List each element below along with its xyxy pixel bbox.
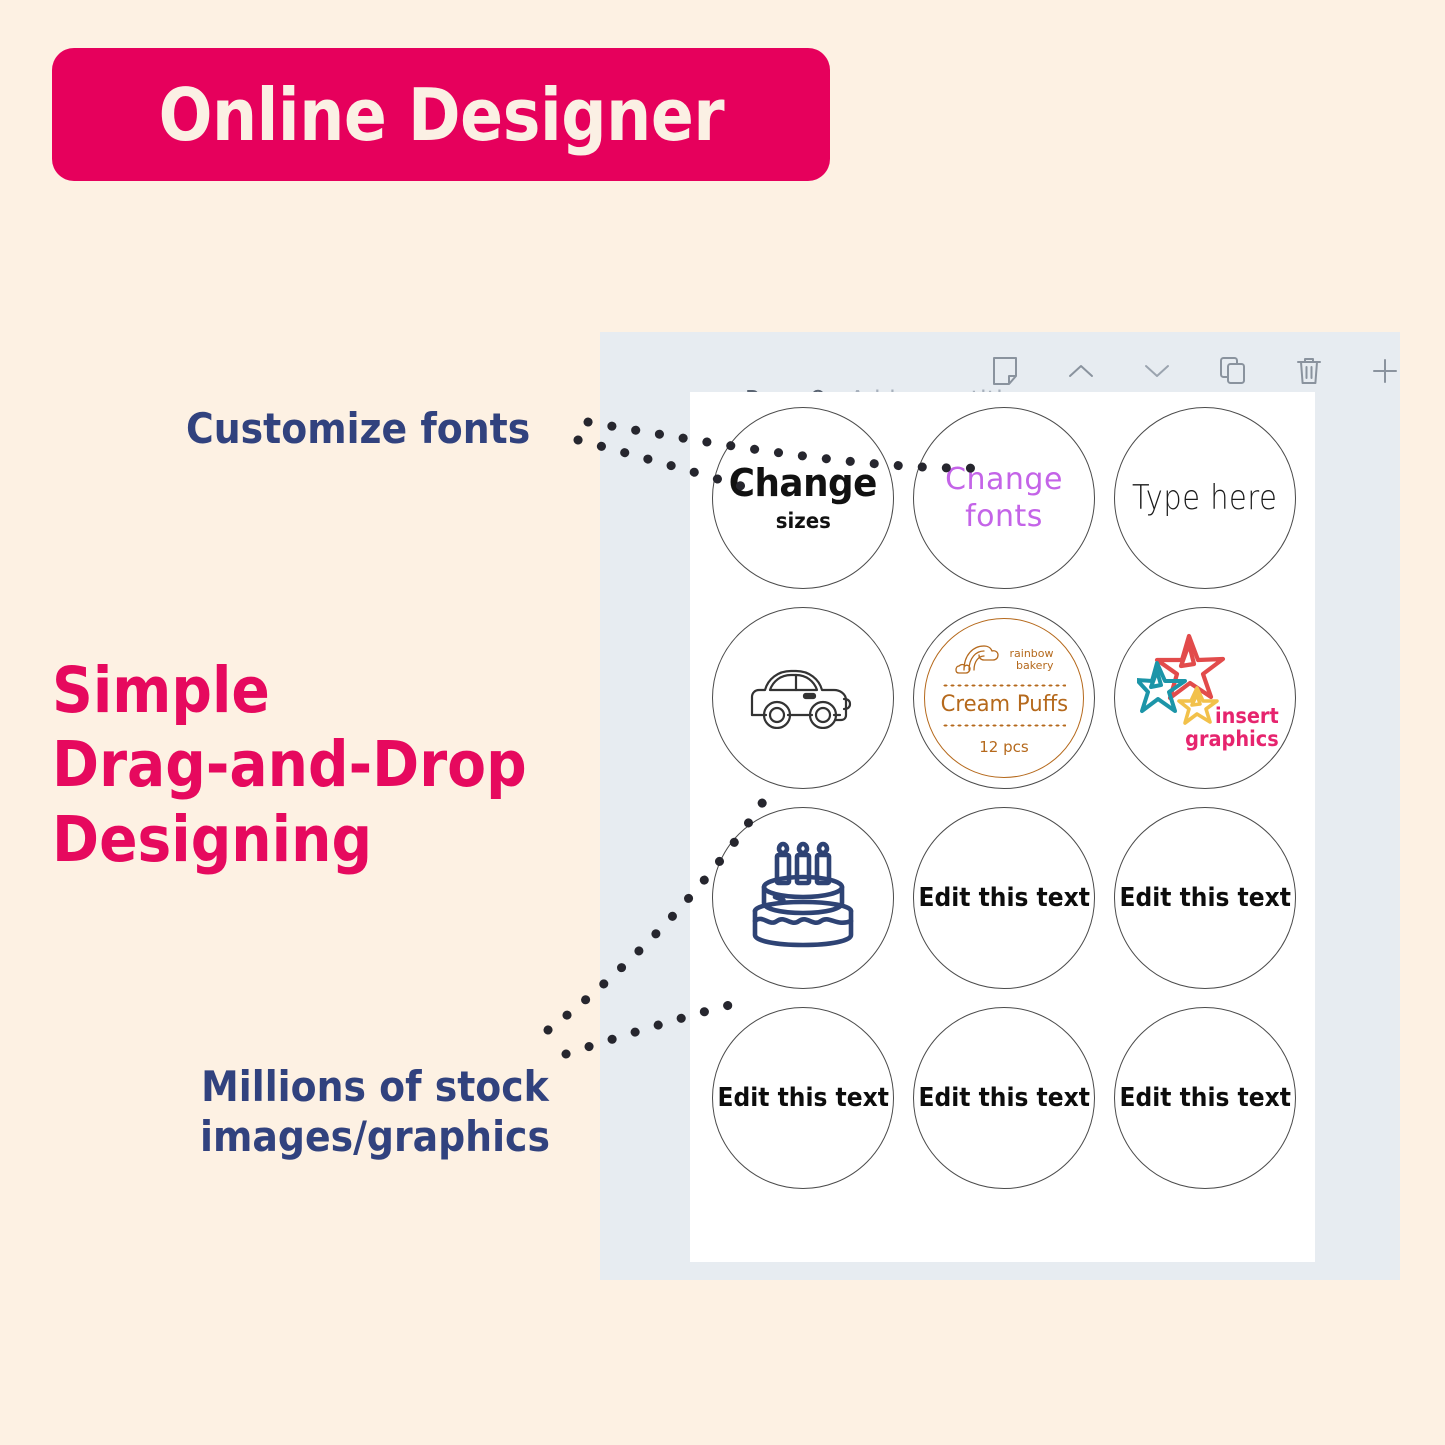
sticker-graphics-label: insert graphics (1185, 705, 1279, 752)
annotation-line: Designing (52, 803, 527, 877)
sticker-text-small: sizes (775, 511, 830, 532)
sticker-text: Edit this text (918, 1083, 1089, 1113)
dotted-divider-bottom (942, 724, 1066, 727)
bakery-quantity: 12 pcs (979, 738, 1028, 756)
sticker-fonts-line2: fonts (945, 498, 1063, 536)
star-red (1157, 636, 1223, 698)
graphics-label-line1: insert (1215, 704, 1279, 728)
bakery-brand: rainbow bakery (1010, 648, 1054, 672)
sticker-edit-text[interactable]: Edit this text (913, 1007, 1095, 1189)
sticker-text: Edit this text (1119, 1083, 1290, 1113)
dotted-divider-top (942, 684, 1066, 687)
bakery-label-inner: rainbow bakery Cream Puffs 12 pcs (924, 618, 1084, 778)
sticker-edit-text[interactable]: Edit this text (1114, 807, 1296, 989)
sticker-edit-text[interactable]: Edit this text (1114, 1007, 1296, 1189)
sticker-bakery-label[interactable]: rainbow bakery Cream Puffs 12 pcs (913, 607, 1095, 789)
annotation-line: Drag-and-Drop (52, 728, 527, 802)
note-icon[interactable] (988, 354, 1022, 388)
copy-icon[interactable] (1216, 354, 1250, 388)
star-teal (1137, 663, 1185, 711)
design-canvas[interactable]: Change sizes Change fonts Type here (690, 392, 1315, 1262)
sticker-text: Edit this text (1119, 883, 1290, 913)
page-title: Online Designer (158, 73, 724, 157)
annotation-line: images/graphics (186, 1112, 564, 1162)
sticker-birthday-cake[interactable] (712, 807, 894, 989)
trash-icon[interactable] (1292, 354, 1326, 388)
sticker-text: Edit this text (918, 883, 1089, 913)
birthday-cake-icon (743, 837, 863, 960)
sticker-car[interactable] (712, 607, 894, 789)
rainbow-icon (955, 640, 1007, 679)
bakery-brand-line2: bakery (1010, 660, 1054, 672)
car-icon (744, 663, 862, 734)
annotation-line: Simple (52, 654, 527, 728)
sticker-grid: Change sizes Change fonts Type here (712, 407, 1296, 1191)
designer-toolbar-row: Page 8 - Add page title (600, 332, 1400, 392)
bakery-header: rainbow bakery (955, 640, 1054, 679)
bakery-product-title: Cream Puffs (940, 692, 1068, 718)
sticker-text-fonts: Change fonts (945, 461, 1063, 536)
annotation-stock-images: Millions of stock images/graphics (186, 1062, 564, 1161)
sticker-type-here[interactable]: Type here (1114, 407, 1296, 589)
annotation-line: Millions of stock (186, 1062, 564, 1112)
page-toolbar (988, 354, 1402, 388)
chevron-down-icon[interactable] (1140, 354, 1174, 388)
plus-icon[interactable] (1368, 354, 1402, 388)
graphics-label-line2: graphics (1185, 728, 1279, 752)
chevron-up-icon[interactable] (1064, 354, 1098, 388)
annotation-line: Customize fonts (186, 404, 530, 454)
sticker-text: Edit this text (717, 1083, 888, 1113)
sticker-insert-graphics[interactable]: insert graphics (1114, 607, 1296, 789)
poster-root: Online Designer Customize fonts Simple D… (0, 0, 1445, 1445)
annotation-customize-fonts: Customize fonts (186, 404, 530, 454)
designer-panel: Page 8 - Add page title (600, 332, 1400, 1280)
sticker-change-sizes[interactable]: Change sizes (712, 407, 894, 589)
sticker-edit-text[interactable]: Edit this text (913, 807, 1095, 989)
annotation-drag-and-drop: Simple Drag-and-Drop Designing (52, 654, 527, 877)
sticker-text-big: Change (729, 464, 877, 502)
title-badge: Online Designer (52, 48, 830, 181)
sticker-fonts-line1: Change (945, 462, 1063, 497)
sticker-edit-text[interactable]: Edit this text (712, 1007, 894, 1189)
sticker-text-type: Type here (1132, 478, 1277, 517)
bakery-brand-line1: rainbow (1010, 648, 1054, 660)
sticker-change-fonts[interactable]: Change fonts (913, 407, 1095, 589)
